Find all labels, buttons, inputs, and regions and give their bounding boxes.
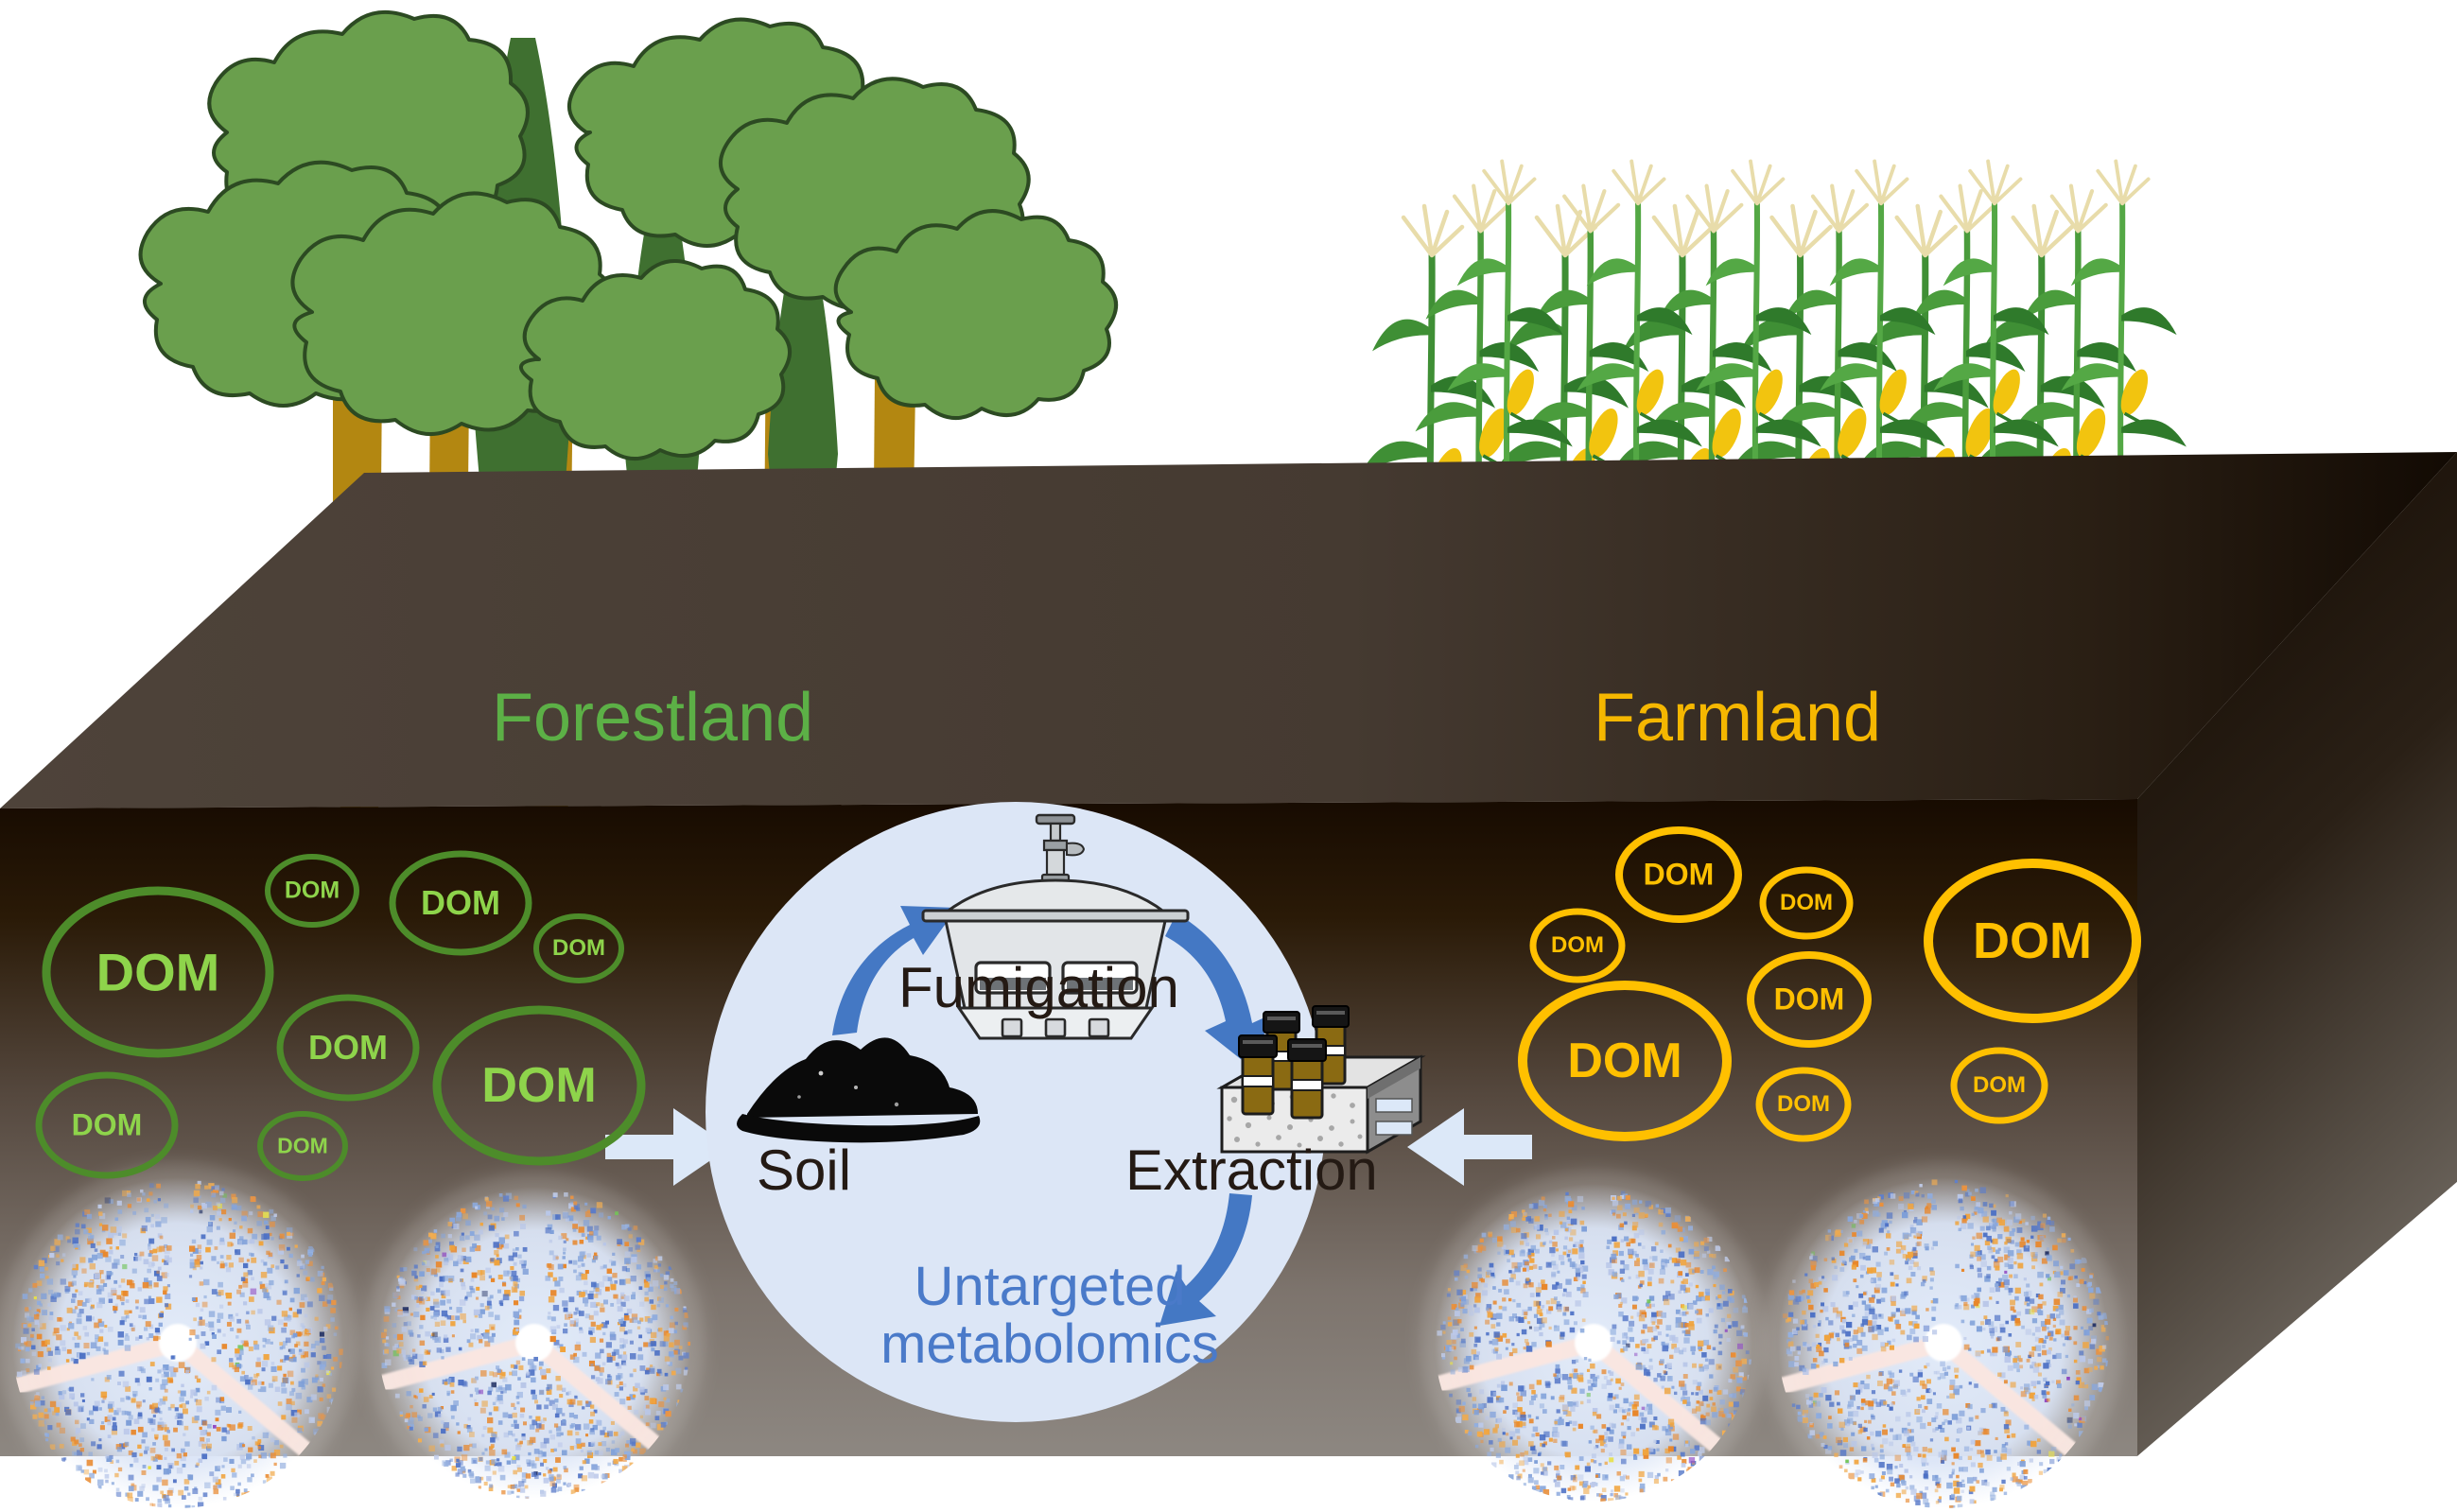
soil-block-top-face [0,452,2457,808]
vial [1239,1035,1277,1114]
metabolomics-cluster-plot [359,1168,709,1512]
metabolomics-cluster-plot [1758,1157,2129,1512]
metabolomics-cluster-plot [1416,1165,1771,1512]
scene-layer [0,0,2457,1512]
vial [1288,1039,1326,1118]
graphical-abstract-figure: Forestland Farmland Fumigation Soil Extr… [0,0,2457,1512]
